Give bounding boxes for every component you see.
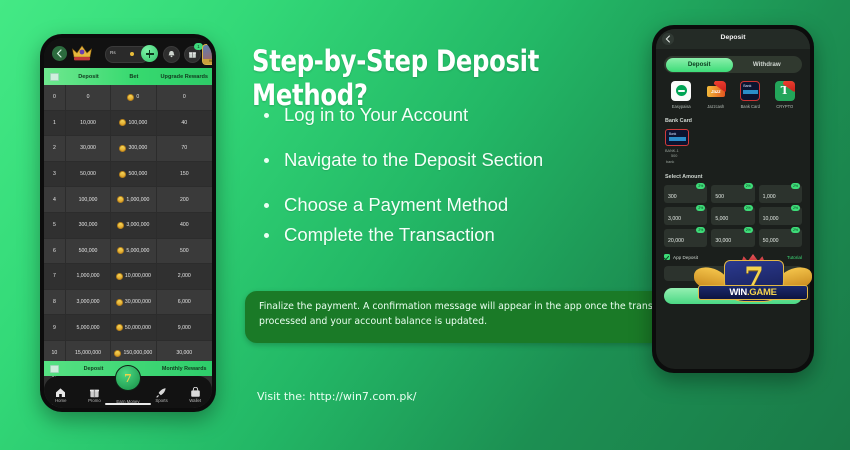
cell-deposit: 300,000 [66, 213, 111, 238]
visit-url-text: Visit the: http://win7.com.pk/ [257, 390, 416, 403]
cell-bet: 300,000 [111, 136, 156, 161]
cell-deposit: 50,000 [66, 162, 111, 187]
coin-icon [127, 94, 134, 101]
cell-reward: 400 [157, 213, 212, 238]
payment-method-label: Easypaisa [672, 104, 691, 109]
cell-deposit: 3,000,000 [66, 290, 111, 315]
amount-tile[interactable]: 2%500 [711, 185, 754, 203]
cell-level: 8 [44, 290, 66, 315]
amount-value: 20,000 [668, 238, 684, 244]
payment-method-label: Bank Card [741, 104, 760, 109]
poster-canvas: Rs 1 [0, 0, 850, 450]
steps-list: Log in to Your Account Navigate to the D… [258, 104, 678, 245]
gift-icon [89, 385, 100, 396]
coin-icon: 7 [115, 365, 141, 391]
amount-tile[interactable]: 2%5,000 [711, 207, 754, 225]
cell-level: 5 [44, 213, 66, 238]
bonus-badge: 2% [696, 183, 705, 189]
amount-value: 300 [668, 194, 677, 200]
list-item: Log in to Your Account [258, 104, 678, 125]
coin-icon [116, 324, 123, 331]
section-title-bank-card: Bank Card [665, 118, 810, 124]
amount-tile[interactable]: 2%30,000 [711, 229, 754, 247]
table-header-icon-cell [44, 68, 66, 85]
bonus-badge: 2% [791, 227, 800, 233]
cell-level: 9 [44, 315, 66, 340]
coin-icon [119, 171, 126, 178]
tab-deposit[interactable]: Deposit [666, 58, 734, 72]
amount-value: 3,000 [668, 216, 681, 222]
page-title: Deposit [656, 34, 810, 41]
cell-bet: 100,000 [111, 111, 156, 136]
cell-bet: 0 [111, 85, 156, 110]
cell-deposit: 10,000 [66, 111, 111, 136]
payment-method-jazzcash[interactable]: Jazz Jazzcash [699, 81, 734, 109]
amount-tile[interactable]: 2%3,000 [664, 207, 707, 225]
table-row: 6500,0005,000,000500 [44, 239, 212, 265]
crypto-icon: T [775, 81, 795, 101]
bank-card-wordmark: Bank [669, 132, 676, 136]
payment-method-easypaisa[interactable]: Easypaisa [664, 81, 699, 109]
bonus-badge: 2% [696, 227, 705, 233]
amount-value: 30,000 [715, 238, 731, 244]
table-row: 71,000,00010,000,0002,000 [44, 264, 212, 290]
deposit-withdraw-tabs: Deposit Withdraw [664, 56, 802, 73]
bell-icon[interactable] [163, 46, 180, 63]
bonus-badge: 2% [696, 205, 705, 211]
bonus-badge: 2% [791, 183, 800, 189]
table-row: 350,000500,000150 [44, 162, 212, 188]
list-item: Choose a Payment Method [258, 194, 678, 215]
nav-label: Wallet [189, 398, 201, 403]
amount-value: 10,000 [763, 216, 779, 222]
card-stripe [743, 90, 758, 94]
cell-reward: 500 [157, 239, 212, 264]
section-title-select-amount: Select Amount [665, 174, 810, 180]
balance-currency: Rs [110, 50, 116, 55]
back-arrow-icon[interactable] [52, 46, 67, 61]
coin-seven: 7 [124, 372, 132, 385]
bank-card-wordmark: Bank [743, 84, 751, 88]
rocket-icon [156, 385, 167, 396]
bank-card-type: bank [666, 160, 810, 165]
tab-withdraw[interactable]: Withdraw [733, 58, 801, 72]
bonus-badge: 2% [744, 227, 753, 233]
box-icon [50, 73, 59, 81]
card-stripe [669, 137, 686, 141]
coin-icon [117, 222, 124, 229]
cell-bet: 500,000 [111, 162, 156, 187]
cell-reward: 2,000 [157, 264, 212, 289]
cell-reward: 9,000 [157, 315, 212, 340]
payment-method-crypto[interactable]: T CRYPTO [768, 81, 803, 109]
table-row: 110,000100,00040 [44, 111, 212, 137]
logo-wordmark: WIN.GAME [694, 287, 812, 298]
cell-level: 4 [44, 187, 66, 212]
table-row: 83,000,00030,000,0006,000 [44, 290, 212, 316]
cell-bet: 5,000,000 [111, 239, 156, 264]
box-icon [50, 365, 59, 373]
table-body: 0000110,000100,00040230,000300,00070350,… [44, 85, 212, 408]
logo-word-right: .GAME [747, 287, 777, 298]
cell-level: 7 [44, 264, 66, 289]
avatar-vip-label: VIP0 [203, 59, 212, 64]
coin-icon [119, 145, 126, 152]
cell-level: 6 [44, 239, 66, 264]
bank-card-meta: BANK-1 500 bank [665, 149, 810, 165]
cell-level: 0 [44, 85, 66, 110]
bonus-badge: 2% [791, 205, 800, 211]
cell-reward: 40 [157, 111, 212, 136]
amount-value: 500 [715, 194, 724, 200]
amount-tile[interactable]: 2%50,000 [759, 229, 802, 247]
cell-deposit: 5,000,000 [66, 315, 111, 340]
cell-bet: 50,000,000 [111, 315, 156, 340]
table-row: 230,000300,00070 [44, 136, 212, 162]
app-header: Rs 1 [44, 38, 212, 68]
right-phone-mockup: Deposit Deposit Withdraw Easypaisa Jazz … [652, 25, 814, 373]
bank-card-icon: Bank [740, 81, 760, 101]
bonus-badge: 2% [744, 205, 753, 211]
table-header-row: Deposit Bet Upgrade Rewards [44, 68, 212, 85]
payment-method-label: CRYPTO [776, 104, 793, 109]
cell-bet: 10,000,000 [111, 264, 156, 289]
bottom-nav-bar: Home Promo 7 Earn Money Sports [44, 376, 212, 408]
avatar[interactable]: VIP0 [202, 44, 212, 65]
page-title: Step-by-Step Deposit Method? [252, 44, 624, 112]
amount-tile[interactable]: 2%1,000 [759, 185, 802, 203]
table-row: 95,000,00050,000,0009,000 [44, 315, 212, 341]
coin-icon [119, 119, 126, 126]
deposit-header: Deposit [656, 29, 810, 49]
easypaisa-icon [671, 81, 691, 101]
wallet-icon [190, 385, 201, 396]
cell-level: 3 [44, 162, 66, 187]
cell-bet: 1,000,000 [111, 187, 156, 212]
list-item: Complete the Transaction [258, 224, 678, 245]
coin-icon [130, 52, 134, 56]
coin-icon [114, 350, 121, 357]
coin-icon [117, 247, 124, 254]
home-icon [55, 385, 66, 396]
coin-icon [116, 299, 123, 306]
cell-bet: 30,000,000 [111, 290, 156, 315]
cell-reward: 6,000 [157, 290, 212, 315]
cell-deposit: 30,000 [66, 136, 111, 161]
app-deposit-checkbox[interactable] [664, 254, 670, 260]
cell-reward: 70 [157, 136, 212, 161]
cell-reward: 200 [157, 187, 212, 212]
bonus-badge: 2% [744, 183, 753, 189]
coin-icon [117, 196, 124, 203]
table-row: 0000 [44, 85, 212, 111]
left-phone-mockup: Rs 1 [40, 34, 216, 412]
cell-bet: 3,000,000 [111, 213, 156, 238]
amount-value: 1,000 [763, 194, 776, 200]
nav-label: Home [55, 398, 66, 403]
table-header-deposit: Deposit [66, 68, 111, 85]
cell-deposit: 0 [66, 85, 111, 110]
win7-game-logo: 7 WIN.GAME [694, 254, 812, 308]
list-item: Navigate to the Deposit Section [258, 149, 678, 170]
amount-value: 50,000 [763, 238, 779, 244]
footer-icon-cell [44, 365, 66, 373]
nav-item-home[interactable]: Home [44, 376, 78, 408]
table-row: 5300,0003,000,000400 [44, 213, 212, 239]
nav-item-wallet[interactable]: Wallet [178, 376, 212, 408]
payment-method-row: Easypaisa Jazz Jazzcash Bank Bank Card [664, 81, 802, 109]
add-funds-button[interactable] [141, 45, 158, 62]
nav-label: Sports [155, 398, 167, 403]
selected-bank-card[interactable]: Bank [665, 129, 689, 146]
payment-method-bank-card[interactable]: Bank Bank Card [733, 81, 768, 109]
cell-deposit: 1,000,000 [66, 264, 111, 289]
cell-level: 1 [44, 111, 66, 136]
cell-deposit: 500,000 [66, 239, 111, 264]
amount-grid: 2%3002%5002%1,0002%3,0002%5,0002%10,0002… [664, 185, 802, 247]
table-header-reward: Upgrade Rewards [157, 68, 212, 85]
amount-tile[interactable]: 2%10,000 [759, 207, 802, 225]
logo-word-left: WIN [729, 287, 747, 298]
coin-icon [116, 273, 123, 280]
footer-label-monthly-rewards[interactable]: Monthly Rewards [157, 366, 212, 372]
nav-label: Promo [88, 398, 101, 403]
jazzcash-icon: Jazz [706, 81, 726, 101]
cell-deposit: 100,000 [66, 187, 111, 212]
right-phone-screen: Deposit Deposit Withdraw Easypaisa Jazz … [656, 29, 810, 369]
table-row: 4100,0001,000,000200 [44, 187, 212, 213]
amount-value: 5,000 [715, 216, 728, 222]
cell-reward: 150 [157, 162, 212, 187]
crown-logo-icon [71, 44, 93, 63]
left-phone-screen: Rs 1 [44, 38, 212, 408]
payment-method-label: Jazzcash [707, 104, 724, 109]
amount-tile[interactable]: 2%300 [664, 185, 707, 203]
cell-reward: 0 [157, 85, 212, 110]
footer-label-deposit[interactable]: Deposit [66, 366, 121, 372]
table-header-bet: Bet [111, 68, 156, 85]
cell-level: 2 [44, 136, 66, 161]
amount-tile[interactable]: 2%20,000 [664, 229, 707, 247]
